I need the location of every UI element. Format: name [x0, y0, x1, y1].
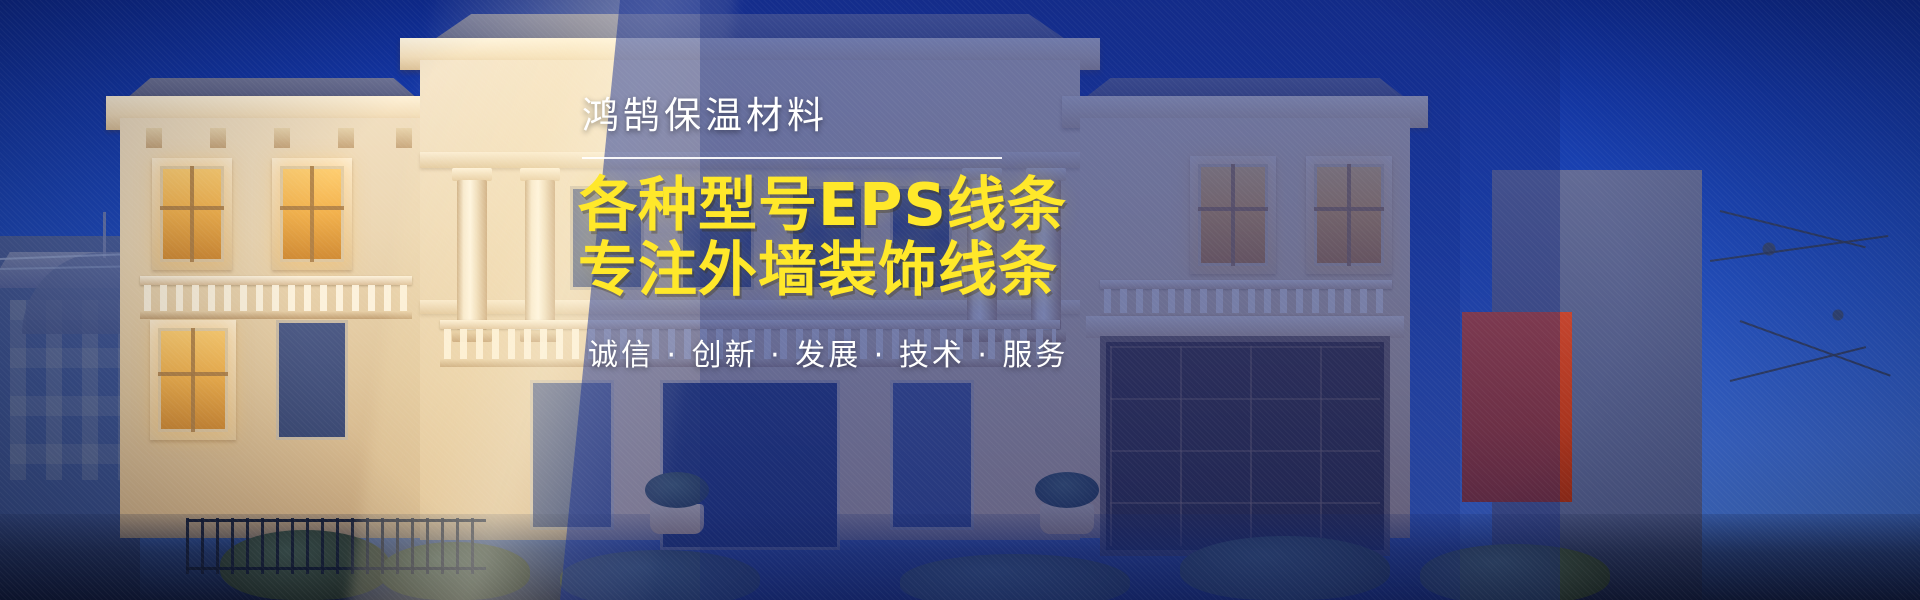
- headline-line-1: 各种型号EPS线条: [578, 173, 1020, 237]
- divider-rule: [582, 157, 1002, 159]
- text-block: 鸿鹄保温材料 各种型号EPS线条 专注外墙装饰线条 诚信 · 创新 · 发展 ·…: [560, 96, 1020, 374]
- planter: [650, 504, 704, 534]
- cornice-bracket: [396, 128, 412, 148]
- lit-window: [280, 166, 344, 262]
- dark-window: [276, 320, 348, 440]
- headline-line-2: 专注外墙装饰线条: [578, 238, 1020, 302]
- shrub: [560, 550, 760, 600]
- shrub: [1420, 544, 1610, 600]
- cornice-bracket: [338, 128, 354, 148]
- lit-window: [160, 166, 224, 262]
- balustrade-posts: [144, 285, 408, 311]
- shrub: [900, 554, 1130, 600]
- iron-fence: [186, 518, 486, 574]
- planter-plant: [1035, 472, 1099, 508]
- shrub: [1180, 536, 1390, 600]
- cornice-bracket: [210, 128, 226, 148]
- tagline: 诚信 · 创新 · 发展 · 技术 · 服务: [560, 338, 1020, 374]
- tree-branch: [1710, 235, 1889, 262]
- tree-branch: [1740, 320, 1891, 377]
- dark-window: [890, 380, 974, 530]
- brand-name: 鸿鹄保温材料: [560, 96, 1020, 137]
- dark-window: [530, 380, 614, 530]
- balustrade-base: [140, 311, 412, 319]
- tree-silhouette: [1700, 150, 1920, 480]
- planter: [1040, 504, 1094, 534]
- garage-lintel: [1086, 316, 1404, 338]
- cornice-bracket: [274, 128, 290, 148]
- balustrade-rail: [140, 276, 412, 285]
- lit-window: [158, 328, 228, 432]
- planter-plant: [645, 472, 709, 508]
- headline: 各种型号EPS线条 专注外墙装饰线条: [560, 173, 1020, 302]
- tree-branch: [1730, 346, 1866, 382]
- column: [525, 180, 555, 330]
- balustrade-posts: [1104, 289, 1388, 313]
- hero-banner: 鸿鹄保温材料 各种型号EPS线条 专注外墙装饰线条 诚信 · 创新 · 发展 ·…: [0, 0, 1920, 600]
- cornice-bracket: [146, 128, 162, 148]
- red-structure: [1462, 312, 1572, 502]
- column: [457, 180, 487, 330]
- balustrade-rail: [1100, 280, 1392, 289]
- lit-window: [1314, 164, 1384, 266]
- lit-window: [1198, 164, 1268, 266]
- fence-rail: [186, 567, 486, 570]
